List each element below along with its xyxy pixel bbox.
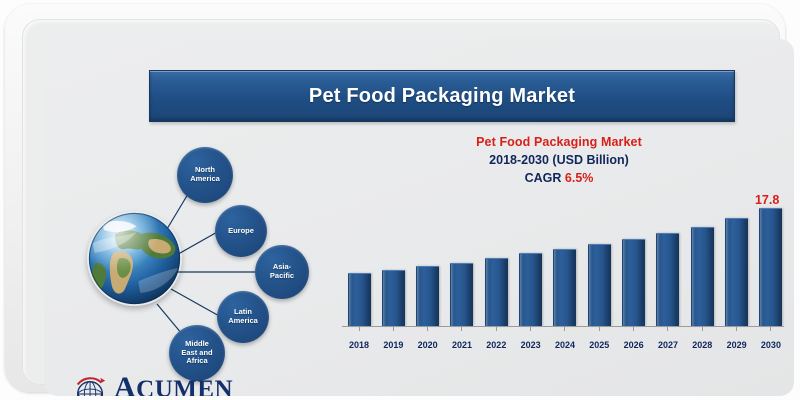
x-tick — [724, 326, 750, 332]
bar-2018 — [348, 273, 371, 326]
x-tick — [621, 326, 647, 332]
inner-frame: Pet Food Packaging Market — [22, 19, 780, 385]
acumen-logo[interactable]: ACUMEN RESEARCH AND CONSULTING — [72, 371, 277, 396]
x-label-2019: 2019 — [380, 340, 406, 350]
x-tick — [449, 326, 475, 332]
bar-2021 — [450, 263, 473, 326]
bar-2026 — [622, 239, 645, 326]
bar-2022 — [485, 258, 508, 326]
page-title: Pet Food Packaging Market — [309, 85, 575, 108]
acumen-initial: A — [114, 371, 136, 396]
acumen-logo-text: ACUMEN RESEARCH AND CONSULTING — [114, 373, 233, 396]
market-bar-chart: Pet Food Packaging Market 2018-2030 (USD… — [334, 135, 784, 375]
region-asia-pacific[interactable]: Asia-Pacific — [255, 245, 309, 299]
region-label: NorthAmerica — [190, 166, 220, 184]
x-axis-labels: 2018201920202021202220232024202520262027… — [346, 340, 784, 350]
outer-frame: Pet Food Packaging Market — [5, 4, 785, 392]
acumen-wordmark: ACUMEN — [114, 373, 233, 396]
infographic-root: Pet Food Packaging Market — [0, 0, 800, 400]
bar-column — [655, 198, 681, 326]
x-label-2028: 2028 — [689, 340, 715, 350]
region-label: Asia-Pacific — [270, 263, 294, 281]
bar-column — [346, 198, 372, 326]
bar-value-label-2030: 17.8 — [755, 193, 779, 207]
x-label-2023: 2023 — [518, 340, 544, 350]
bar-2029 — [725, 218, 748, 326]
x-tick — [758, 326, 784, 332]
region-label: MiddleEast andAfrica — [181, 340, 212, 367]
bar-column — [724, 198, 750, 326]
x-tick — [552, 326, 578, 332]
bar-column — [621, 198, 647, 326]
regions-diagram: NorthAmerica Europe Asia-Pacific LatinAm… — [69, 139, 329, 384]
bar-column — [689, 198, 715, 326]
bar-2024 — [553, 249, 576, 326]
bar-2019 — [382, 270, 405, 326]
x-tick — [346, 326, 372, 332]
x-tick — [380, 326, 406, 332]
x-axis-ticks — [346, 326, 784, 332]
acumen-wordmark-rest: CUMEN — [136, 376, 233, 396]
x-label-2022: 2022 — [483, 340, 509, 350]
bar-column — [449, 198, 475, 326]
acumen-globe-logo-icon — [72, 375, 110, 396]
bar-column: 17.8 — [758, 198, 784, 326]
bar-2023 — [519, 253, 542, 326]
region-latin-america[interactable]: LatinAmerica — [217, 291, 269, 343]
x-tick — [655, 326, 681, 332]
x-tick — [518, 326, 544, 332]
x-tick — [586, 326, 612, 332]
x-label-2027: 2027 — [655, 340, 681, 350]
region-europe[interactable]: Europe — [215, 205, 267, 257]
bar-column — [518, 198, 544, 326]
chart-subtitle: 2018-2030 (USD Billion) — [334, 153, 784, 167]
chart-cagr: CAGR 6.5% — [334, 171, 784, 185]
bar-column — [380, 198, 406, 326]
x-label-2025: 2025 — [586, 340, 612, 350]
bar-column — [552, 198, 578, 326]
bar-column — [483, 198, 509, 326]
chart-title-group: Pet Food Packaging Market 2018-2030 (USD… — [334, 135, 784, 185]
x-label-2020: 2020 — [415, 340, 441, 350]
region-label: LatinAmerica — [228, 308, 258, 326]
chart-plot-area: 17.8 20182019202020212022202320242025202… — [338, 197, 784, 342]
x-tick — [483, 326, 509, 332]
x-label-2018: 2018 — [346, 340, 372, 350]
bar-column — [586, 198, 612, 326]
chart-title: Pet Food Packaging Market — [334, 135, 784, 149]
bar-2028 — [691, 227, 714, 326]
x-label-2026: 2026 — [621, 340, 647, 350]
bar-2030 — [759, 208, 782, 326]
region-label: Europe — [228, 227, 254, 236]
region-north-america[interactable]: NorthAmerica — [177, 147, 233, 203]
x-label-2030: 2030 — [758, 340, 784, 350]
cagr-value: 6.5% — [565, 171, 594, 185]
x-tick — [689, 326, 715, 332]
x-tick — [415, 326, 441, 332]
bar-column — [415, 198, 441, 326]
bar-2020 — [416, 266, 439, 326]
bar-2025 — [588, 244, 611, 326]
x-label-2021: 2021 — [449, 340, 475, 350]
globe-earth-icon — [87, 211, 182, 306]
bar-series: 17.8 — [346, 198, 784, 326]
x-label-2024: 2024 — [552, 340, 578, 350]
header-banner: Pet Food Packaging Market — [149, 70, 735, 122]
x-label-2029: 2029 — [724, 340, 750, 350]
bar-2027 — [656, 233, 679, 326]
infographic-canvas: Pet Food Packaging Market — [44, 39, 794, 396]
cagr-label: CAGR — [525, 171, 565, 185]
